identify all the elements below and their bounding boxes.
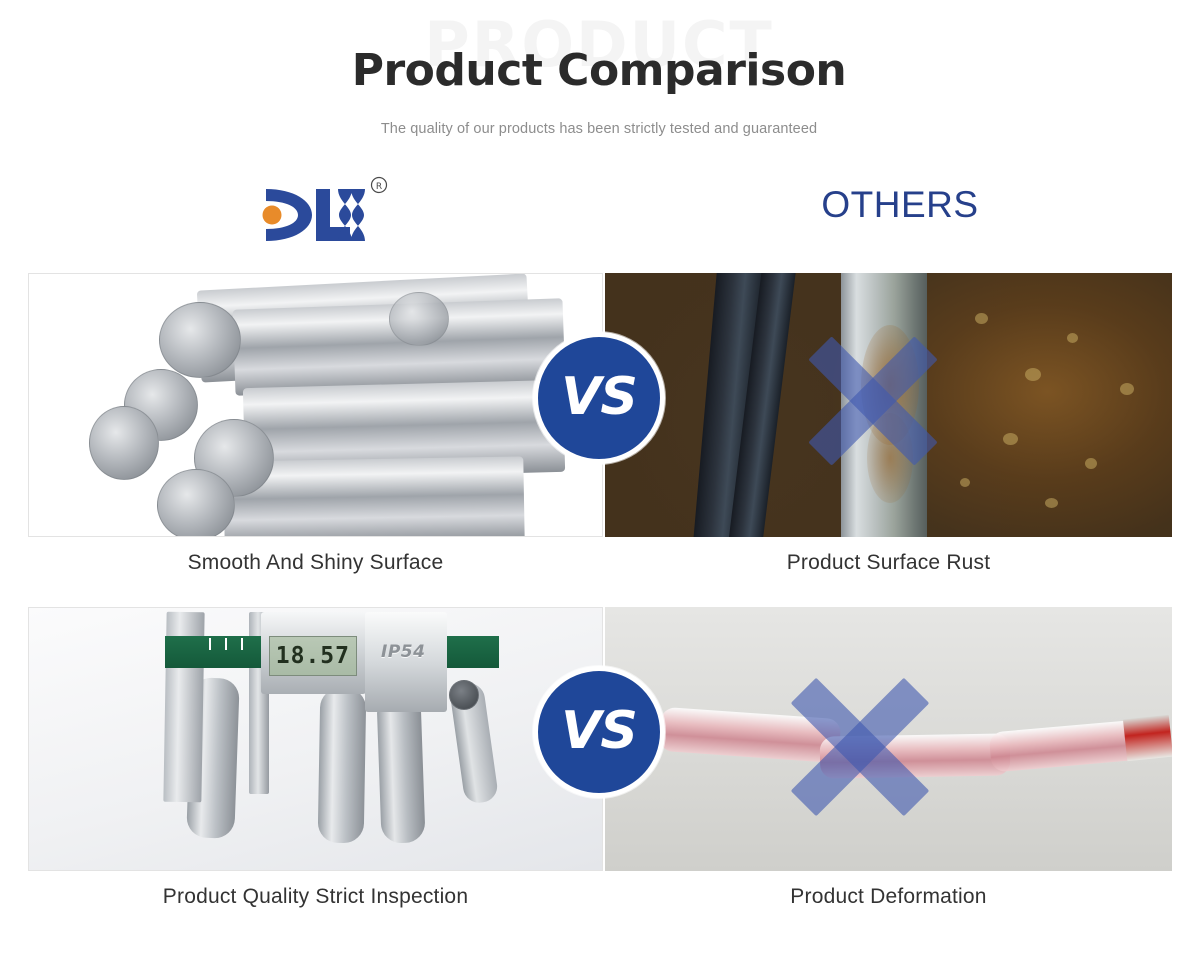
page-subtitle: The quality of our products has been str… — [0, 121, 1198, 137]
caption-ours: Smooth And Shiny Surface — [28, 547, 603, 579]
brand-row: R OTHERS — [0, 165, 1198, 273]
vs-badge: VS — [533, 666, 665, 798]
caliper-lcd: 18.57 — [269, 636, 357, 676]
registered-trademark-icon: R — [372, 178, 387, 193]
comparison-cell-others[interactable]: Product Deformation — [605, 607, 1172, 913]
photo-rusty-metal-pole-outdoors[interactable] — [605, 273, 1172, 537]
comparison-grid: Smooth And Shiny Surface — [0, 273, 1198, 941]
caliper-ip-rating: IP54 — [381, 642, 425, 662]
caption-others: Product Surface Rust — [605, 547, 1172, 579]
product-comparison-page: PRODUCT Product Comparison The quality o… — [0, 0, 1198, 968]
others-label: OTHERS — [760, 179, 1040, 231]
photo-digital-caliper-measuring-rods[interactable]: 18.57 IP54 — [28, 607, 603, 871]
svg-text:R: R — [376, 182, 382, 192]
comparison-row: Smooth And Shiny Surface — [0, 273, 1198, 607]
vs-label: VS — [561, 705, 637, 757]
caliper-display-value: 18.57 — [276, 645, 350, 668]
package-label — [1123, 715, 1172, 762]
comparison-cell-ours[interactable]: 18.57 IP54 Product Quality Strict Inspec… — [28, 607, 603, 913]
caption-ours: Product Quality Strict Inspection — [28, 881, 603, 913]
scene-deformed-rod — [605, 607, 1172, 871]
photo-bent-rod-in-bubble-wrap[interactable] — [605, 607, 1172, 871]
caption-others: Product Deformation — [605, 881, 1172, 913]
vs-badge: VS — [533, 332, 665, 464]
page-title: Product Comparison — [0, 48, 1198, 94]
scene-caliper-inspection: 18.57 IP54 — [29, 608, 602, 870]
scene-steel-bars — [29, 274, 602, 536]
company-logo: R — [258, 175, 388, 255]
comparison-cell-ours[interactable]: Smooth And Shiny Surface — [28, 273, 603, 579]
scene-rusty-pole — [605, 273, 1172, 537]
vs-label: VS — [561, 371, 637, 423]
photo-stainless-steel-round-bars[interactable] — [28, 273, 603, 537]
comparison-cell-others[interactable]: Product Surface Rust — [605, 273, 1172, 579]
comparison-row: 18.57 IP54 Product Quality Strict Inspec… — [0, 607, 1198, 941]
page-header: PRODUCT Product Comparison The quality o… — [0, 0, 1198, 165]
